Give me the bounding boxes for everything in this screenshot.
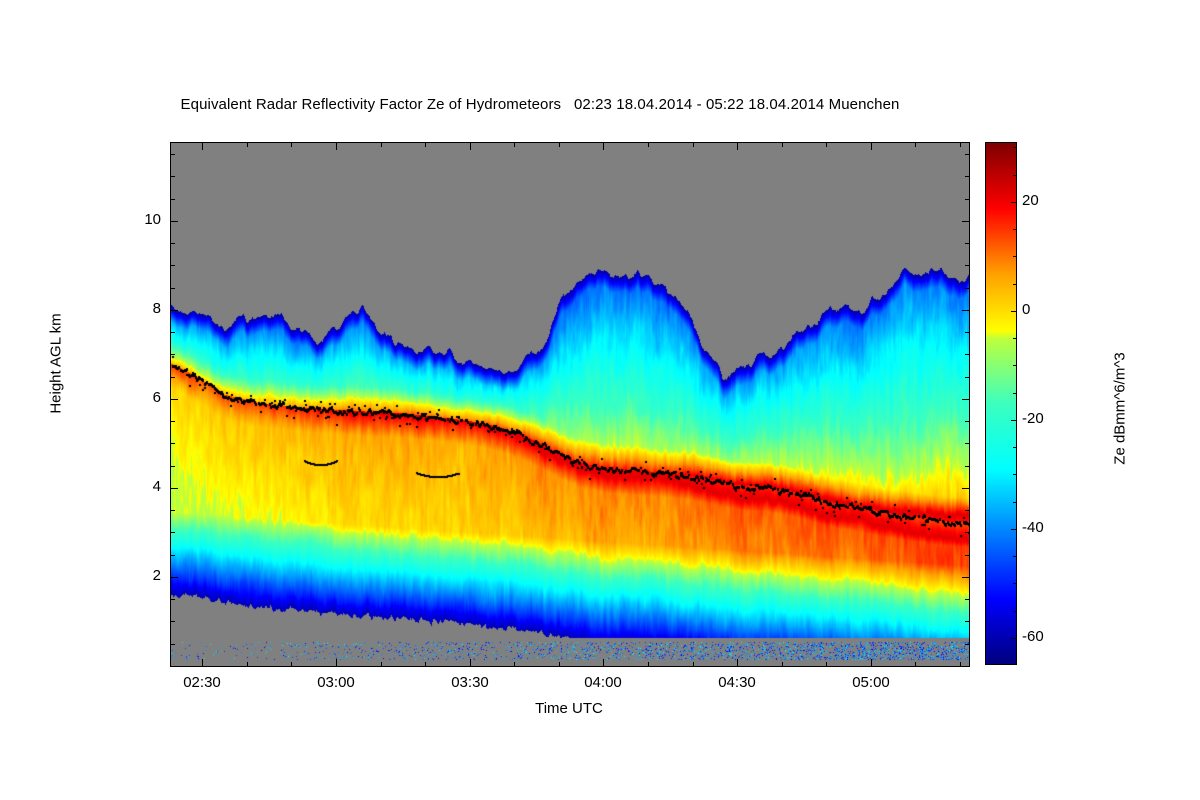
x-tick-minor-top xyxy=(960,143,961,147)
x-tick-minor-top xyxy=(247,143,248,147)
x-tick-label: 04:00 xyxy=(563,674,643,691)
x-tick-minor xyxy=(960,662,961,666)
y-tick-major-right xyxy=(962,310,969,311)
y-tick-minor-right xyxy=(965,532,969,533)
x-tick-minor-top xyxy=(693,143,694,147)
y-tick-major-right xyxy=(962,399,969,400)
x-tick-minor-top xyxy=(915,143,916,147)
y-tick-minor xyxy=(171,510,175,511)
colorbar-tick-label: -20 xyxy=(1022,410,1044,427)
radar-reflectivity-heatmap xyxy=(171,143,969,666)
x-tick-minor-top xyxy=(826,143,827,147)
colorbar[interactable] xyxy=(985,142,1017,665)
y-tick-minor-right xyxy=(965,644,969,645)
x-tick-minor-top xyxy=(782,143,783,147)
y-tick-label: 4 xyxy=(121,478,161,495)
x-tick-major-top xyxy=(336,143,337,150)
y-tick-minor-right xyxy=(965,377,969,378)
y-tick-major xyxy=(171,221,178,222)
y-tick-minor-right xyxy=(965,443,969,444)
x-tick-major-top xyxy=(470,143,471,150)
y-tick-minor xyxy=(171,621,175,622)
colorbar-tick-minor xyxy=(1013,365,1017,366)
colorbar-tick-minor xyxy=(1013,556,1017,557)
x-tick-minor-top xyxy=(381,143,382,147)
x-tick-major xyxy=(470,659,471,666)
y-tick-minor xyxy=(171,332,175,333)
colorbar-tick-minor xyxy=(1013,147,1017,148)
colorbar-tick-minor xyxy=(1013,256,1017,257)
x-tick-minor xyxy=(514,662,515,666)
y-tick-label: 10 xyxy=(121,211,161,228)
y-tick-minor xyxy=(171,377,175,378)
y-tick-minor xyxy=(171,443,175,444)
y-tick-minor xyxy=(171,532,175,533)
x-tick-major xyxy=(336,659,337,666)
y-tick-major xyxy=(171,310,178,311)
y-tick-minor-right xyxy=(965,265,969,266)
x-tick-minor xyxy=(247,662,248,666)
y-tick-minor-right xyxy=(965,243,969,244)
x-tick-major xyxy=(603,659,604,666)
y-tick-minor xyxy=(171,555,175,556)
x-axis-title: Time UTC xyxy=(170,700,968,717)
x-tick-major xyxy=(737,659,738,666)
y-tick-major xyxy=(171,488,178,489)
y-tick-minor-right xyxy=(965,555,969,556)
x-tick-major-top xyxy=(871,143,872,150)
y-tick-minor xyxy=(171,466,175,467)
y-tick-minor xyxy=(171,421,175,422)
x-tick-minor xyxy=(291,662,292,666)
x-tick-label: 03:30 xyxy=(430,674,510,691)
colorbar-gradient xyxy=(985,142,1017,665)
colorbar-tick xyxy=(1011,202,1017,203)
x-tick-label: 04:30 xyxy=(697,674,777,691)
x-tick-minor xyxy=(826,662,827,666)
colorbar-tick-minor xyxy=(1013,284,1017,285)
colorbar-tick-minor xyxy=(1013,611,1017,612)
x-tick-minor xyxy=(425,662,426,666)
x-tick-minor xyxy=(559,662,560,666)
y-tick-minor-right xyxy=(965,599,969,600)
x-tick-minor xyxy=(915,662,916,666)
colorbar-tick-label: -60 xyxy=(1022,628,1044,645)
y-tick-minor-right xyxy=(965,510,969,511)
y-tick-minor xyxy=(171,265,175,266)
colorbar-tick xyxy=(1011,529,1017,530)
y-tick-minor-right xyxy=(965,621,969,622)
colorbar-tick xyxy=(1011,420,1017,421)
y-tick-minor-right xyxy=(965,154,969,155)
y-tick-minor xyxy=(171,199,175,200)
colorbar-tick-minor xyxy=(1013,447,1017,448)
y-tick-minor-right xyxy=(965,354,969,355)
colorbar-tick-minor xyxy=(1013,474,1017,475)
y-tick-major-right xyxy=(962,488,969,489)
y-axis-title: Height AGL km xyxy=(48,264,65,464)
plot-area[interactable] xyxy=(170,142,970,667)
colorbar-tick-minor xyxy=(1013,338,1017,339)
x-tick-minor-top xyxy=(291,143,292,147)
y-tick-major-right xyxy=(962,221,969,222)
x-tick-major-top xyxy=(202,143,203,150)
x-tick-major-top xyxy=(603,143,604,150)
colorbar-tick-minor xyxy=(1013,502,1017,503)
y-tick-major xyxy=(171,577,178,578)
y-tick-minor xyxy=(171,176,175,177)
y-tick-minor-right xyxy=(965,199,969,200)
y-tick-minor xyxy=(171,154,175,155)
colorbar-tick-label: -40 xyxy=(1022,519,1044,536)
radar-figure: Equivalent Radar Reflectivity Factor Ze … xyxy=(0,0,1200,800)
x-tick-minor-top xyxy=(559,143,560,147)
colorbar-tick-minor xyxy=(1013,229,1017,230)
y-tick-label: 6 xyxy=(121,389,161,406)
page-title: Equivalent Radar Reflectivity Factor Ze … xyxy=(0,96,1080,113)
y-tick-minor-right xyxy=(965,176,969,177)
y-tick-minor-right xyxy=(965,288,969,289)
y-tick-minor xyxy=(171,243,175,244)
colorbar-tick-label: 0 xyxy=(1022,301,1030,318)
x-tick-major xyxy=(202,659,203,666)
colorbar-title: Ze dBmm^6/m^3 xyxy=(1112,289,1129,529)
y-tick-major xyxy=(171,399,178,400)
colorbar-tick-label: 20 xyxy=(1022,192,1039,209)
x-tick-minor-top xyxy=(648,143,649,147)
x-tick-label: 02:30 xyxy=(162,674,242,691)
x-tick-minor xyxy=(693,662,694,666)
y-tick-label: 2 xyxy=(121,567,161,584)
x-tick-major-top xyxy=(737,143,738,150)
y-tick-minor xyxy=(171,288,175,289)
x-tick-minor xyxy=(782,662,783,666)
colorbar-tick-minor xyxy=(1013,583,1017,584)
x-tick-minor-top xyxy=(514,143,515,147)
colorbar-tick-minor xyxy=(1013,393,1017,394)
x-tick-minor xyxy=(381,662,382,666)
x-tick-label: 05:00 xyxy=(831,674,911,691)
y-tick-major-right xyxy=(962,577,969,578)
y-tick-minor-right xyxy=(965,332,969,333)
y-tick-minor xyxy=(171,644,175,645)
x-tick-major xyxy=(871,659,872,666)
x-tick-minor xyxy=(648,662,649,666)
y-tick-minor xyxy=(171,354,175,355)
y-tick-label: 8 xyxy=(121,300,161,317)
x-tick-label: 03:00 xyxy=(296,674,376,691)
y-tick-minor xyxy=(171,599,175,600)
x-tick-minor-top xyxy=(425,143,426,147)
colorbar-tick xyxy=(1011,638,1017,639)
colorbar-tick xyxy=(1011,311,1017,312)
y-tick-minor-right xyxy=(965,421,969,422)
colorbar-tick-minor xyxy=(1013,175,1017,176)
y-tick-minor-right xyxy=(965,466,969,467)
